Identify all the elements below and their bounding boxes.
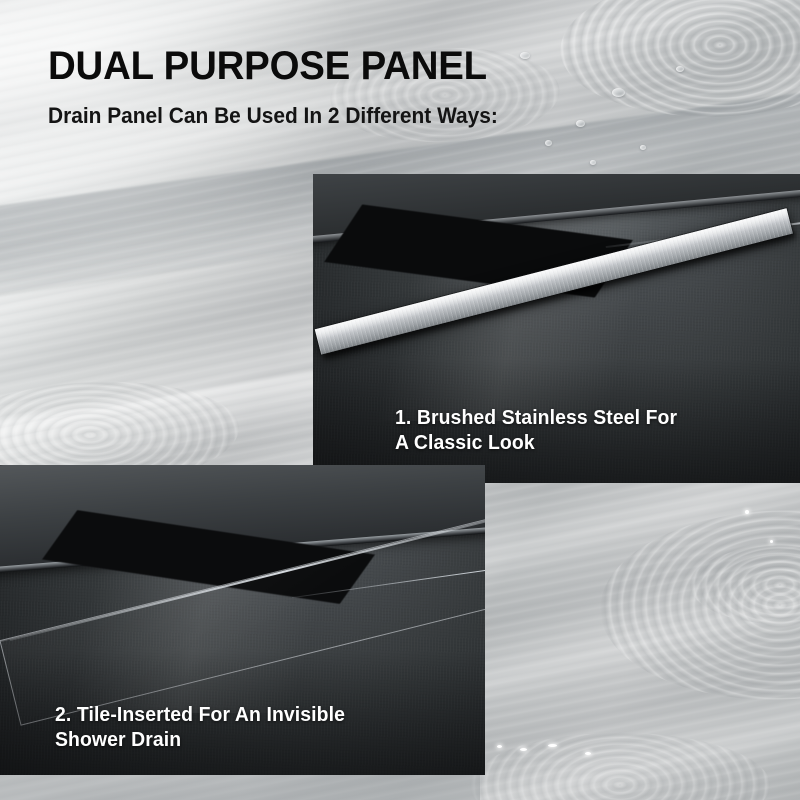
water-glint xyxy=(770,540,773,543)
caption-option-1: 1. Brushed Stainless Steel For A Classic… xyxy=(395,406,715,456)
water-glint xyxy=(548,744,557,747)
page-subtitle: Drain Panel Can Be Used In 2 Different W… xyxy=(48,103,498,129)
page-title: DUAL PURPOSE PANEL xyxy=(48,44,487,88)
water-glint xyxy=(585,752,591,755)
water-glint xyxy=(745,510,749,514)
water-droplet xyxy=(576,120,585,127)
caption-option-2: 2. Tile-Inserted For An Invisible Shower… xyxy=(55,703,375,753)
water-droplet xyxy=(612,88,625,97)
water-droplet xyxy=(520,52,530,59)
water-droplet xyxy=(590,160,596,165)
water-droplet xyxy=(640,145,646,150)
water-droplet xyxy=(545,140,552,146)
water-droplet xyxy=(676,66,684,72)
background-highlight-top-left xyxy=(0,0,360,280)
water-glint xyxy=(497,745,502,748)
infographic-canvas: DUAL PURPOSE PANEL Drain Panel Can Be Us… xyxy=(0,0,800,800)
water-glint xyxy=(520,748,527,751)
